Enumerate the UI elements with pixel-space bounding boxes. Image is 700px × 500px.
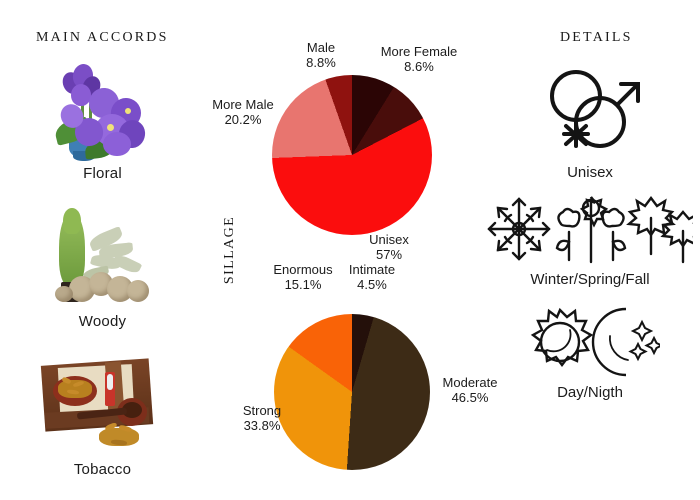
- snowflake-flower-leaf-icon: [480, 189, 700, 269]
- accord-item-tobacco[interactable]: Tobacco: [0, 354, 205, 500]
- pie-label-enormous: Enormous 15.1%: [262, 262, 344, 292]
- gender-pie-chart: [272, 75, 432, 235]
- pie-label-value: 33.8%: [226, 418, 298, 433]
- detail-item-time-of-day: Day/Nigth: [480, 302, 700, 401]
- sun-moon-icon: [480, 302, 700, 382]
- tobacco-pipe-image: [33, 354, 173, 460]
- gender-unisex-icon: [480, 58, 700, 162]
- sillage-pie-slices[interactable]: [274, 314, 430, 470]
- detail-item-gender: Unisex: [480, 58, 700, 181]
- sillage-axis-title: SILLAGE: [222, 200, 238, 300]
- pie-label-text: More Female: [381, 44, 458, 59]
- details-heading: DETAILS: [560, 30, 633, 46]
- pie-label-more-female: More Female 8.6%: [366, 44, 472, 74]
- pie-label-value: 15.1%: [262, 277, 344, 292]
- main-accords-heading: MAIN ACCORDS: [36, 30, 169, 46]
- cypress-wood-image: [33, 206, 173, 312]
- pie-label-male: Male 8.8%: [286, 40, 356, 70]
- accord-item-floral[interactable]: Floral: [0, 58, 205, 206]
- detail-label: Day/Nigth: [480, 384, 700, 401]
- details-list: Unisex: [480, 58, 700, 401]
- pie-label-value: 8.6%: [366, 59, 472, 74]
- main-accords-list: Floral Woody: [0, 58, 205, 500]
- pie-label-value: 20.2%: [200, 112, 286, 127]
- accord-label: Woody: [0, 313, 205, 330]
- sillage-pie-chart: [274, 314, 430, 470]
- pie-label-value: 4.5%: [336, 277, 408, 292]
- pie-label-text: Intimate: [349, 262, 395, 277]
- accord-label: Floral: [0, 165, 205, 182]
- pie-label-unisex: Unisex 57%: [352, 232, 426, 262]
- accord-label: Tobacco: [0, 461, 205, 478]
- violet-flowers-image: [33, 58, 173, 164]
- pie-label-text: More Male: [212, 97, 273, 112]
- pie-label-value: 8.8%: [286, 55, 356, 70]
- pie-label-strong: Strong 33.8%: [226, 403, 298, 433]
- pie-label-text: Enormous: [273, 262, 332, 277]
- gender-pie-slices[interactable]: [272, 75, 432, 235]
- pie-label-more-male: More Male 20.2%: [200, 97, 286, 127]
- detail-item-seasons: Winter/Spring/Fall: [480, 189, 700, 288]
- fragrance-profile-page: MAIN ACCORDS DETAILS: [0, 0, 700, 500]
- pie-label-text: Male: [307, 40, 335, 55]
- detail-label: Unisex: [480, 164, 700, 181]
- pie-label-text: Strong: [243, 403, 281, 418]
- detail-label: Winter/Spring/Fall: [480, 271, 700, 288]
- accord-item-woody[interactable]: Woody: [0, 206, 205, 354]
- pie-label-value: 57%: [352, 247, 426, 262]
- pie-label-text: Unisex: [369, 232, 409, 247]
- pie-label-intimate: Intimate 4.5%: [336, 262, 408, 292]
